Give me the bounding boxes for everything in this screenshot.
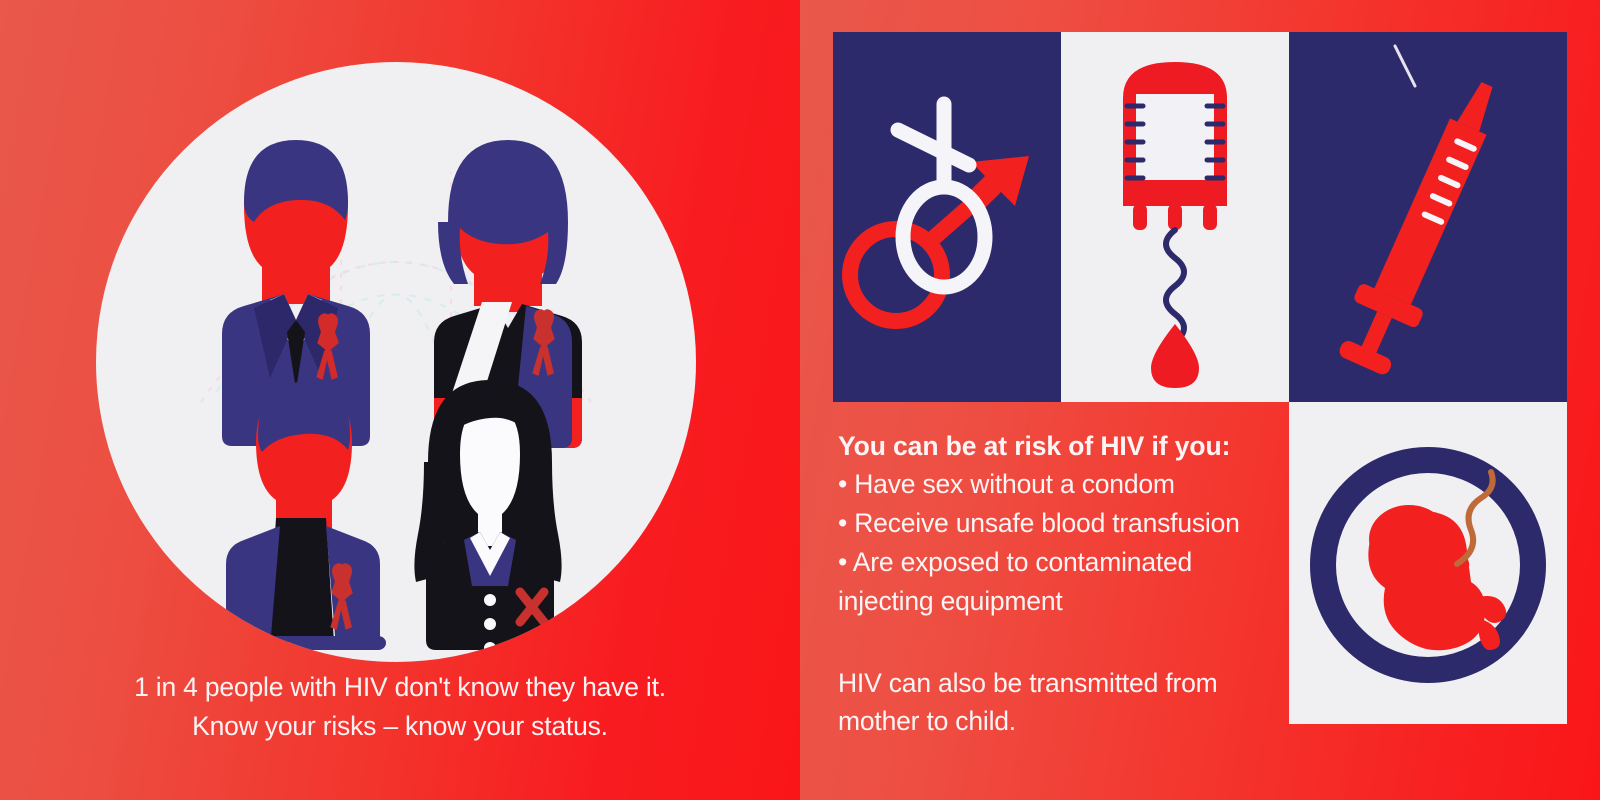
risk-item-2: • Receive unsafe blood transfusion xyxy=(838,504,1288,543)
hiv-awareness-infographic: 1 in 4 people with HIV don't know they h… xyxy=(0,0,1600,800)
tile-fetus xyxy=(1289,402,1567,724)
risk-heading: You can be at risk of HIV if you: xyxy=(838,430,1288,463)
risk-item-1: • Have sex without a condom xyxy=(838,465,1288,504)
caption-line-2: Know your risks – know your status. xyxy=(0,707,800,746)
gender-symbols-icon xyxy=(833,32,1061,402)
blood-bag-icon xyxy=(1061,32,1289,402)
four-people-illustration xyxy=(96,62,696,662)
risk-item-3: • Are exposed to contaminated injecting … xyxy=(838,543,1288,621)
caption-line-1: 1 in 4 people with HIV don't know they h… xyxy=(0,668,800,707)
fetus-icon xyxy=(1289,402,1567,724)
mother-to-child-note: HIV can also be transmitted from mother … xyxy=(838,665,1278,740)
button xyxy=(484,618,496,630)
syringe-icon xyxy=(1289,32,1567,402)
tile-syringe xyxy=(1289,32,1567,402)
left-caption: 1 in 4 people with HIV don't know they h… xyxy=(0,668,800,746)
right-panel: You can be at risk of HIV if you: • Have… xyxy=(800,0,1600,800)
tile-gender-symbols xyxy=(833,32,1061,402)
tile-blood-bag xyxy=(1061,32,1289,402)
button xyxy=(484,642,496,654)
button xyxy=(484,594,496,606)
risk-text-block: You can be at risk of HIV if you: • Have… xyxy=(838,430,1288,621)
left-panel: 1 in 4 people with HIV don't know they h… xyxy=(0,0,800,800)
figure-woman-long-hair xyxy=(414,380,561,654)
